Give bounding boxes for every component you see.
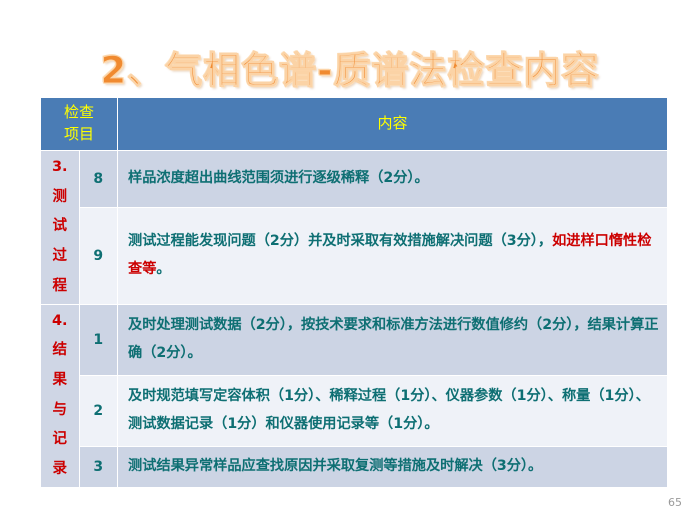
header-item-line1: 检查 (41, 102, 117, 124)
content-text-pre: 及时规范填写定容体积（1分）、稀释过程（1分）、仪器参数（1分）、称量（1分）、… (128, 388, 650, 432)
row-number: 3 (79, 446, 118, 487)
table-row: 4. 结 果与 记录 1 及时处理测试数据（2分），按技术要求和标准方法进行数值… (41, 304, 668, 375)
row-content: 及时处理测试数据（2分），按技术要求和标准方法进行数值修约（2分），结果计算正确… (118, 304, 668, 375)
category-line2: 果与 (47, 366, 73, 425)
category-line1: 4. 结 (47, 307, 73, 366)
slide-canvas: 2、气相色谱-质谱法检查内容 非会员水印 检查 项目 内容 3. 测 试过 程 … (0, 0, 700, 525)
table-body: 3. 测 试过 程 8 样品浓度超出曲线范围须进行逐级稀释（2分）。 9 测试过… (41, 151, 668, 488)
header-cell-content: 内容 (118, 98, 668, 151)
inspection-content-table: 检查 项目 内容 3. 测 试过 程 8 样品浓度超出曲线范围须进行逐级稀释（2… (40, 97, 668, 488)
row-content: 及时规范填写定容体积（1分）、稀释过程（1分）、仪器参数（1分）、称量（1分）、… (118, 375, 668, 446)
title-container: 2、气相色谱-质谱法检查内容 (0, 40, 700, 94)
row-content: 样品浓度超出曲线范围须进行逐级稀释（2分）。 (118, 151, 668, 208)
category-line1: 3. 测 (47, 153, 73, 212)
row-content: 测试过程能发现问题（2分）并及时采取有效措施解决问题（3分），如进样口惰性检查等… (118, 207, 668, 304)
content-text-pre: 测试结果异常样品应查找原因并采取复测等措施及时解决（3分）。 (128, 458, 542, 474)
category-line3: 记录 (47, 425, 73, 484)
table-row: 2 及时规范填写定容体积（1分）、稀释过程（1分）、仪器参数（1分）、称量（1分… (41, 375, 668, 446)
category-line2: 试过 (47, 212, 73, 271)
category-cell-results-records: 4. 结 果与 记录 (41, 304, 80, 487)
content-text-post: 。 (156, 261, 170, 277)
table-row: 9 测试过程能发现问题（2分）并及时采取有效措施解决问题（3分），如进样口惰性检… (41, 207, 668, 304)
row-number: 9 (79, 207, 118, 304)
table-row: 3. 测 试过 程 8 样品浓度超出曲线范围须进行逐级稀释（2分）。 (41, 151, 668, 208)
category-line3: 程 (47, 272, 73, 302)
page-number: 65 (668, 496, 682, 509)
row-content: 测试结果异常样品应查找原因并采取复测等措施及时解决（3分）。 (118, 446, 668, 487)
content-text-pre: 测试过程能发现问题（2分）并及时采取有效措施解决问题（3分）， (128, 233, 552, 249)
category-cell-testing-process: 3. 测 试过 程 (41, 151, 80, 305)
row-number: 1 (79, 304, 118, 375)
page-title: 2、气相色谱-质谱法检查内容 (100, 40, 599, 94)
header-item-line2: 项目 (41, 124, 117, 146)
row-number: 2 (79, 375, 118, 446)
content-text-pre: 及时处理测试数据（2分），按技术要求和标准方法进行数值修约（2分），结果计算正确… (128, 317, 658, 361)
header-cell-item: 检查 项目 (41, 98, 118, 151)
table-header-row: 检查 项目 内容 (41, 98, 668, 151)
table-row: 3 测试结果异常样品应查找原因并采取复测等措施及时解决（3分）。 (41, 446, 668, 487)
row-number: 8 (79, 151, 118, 208)
table-header: 检查 项目 内容 (41, 98, 668, 151)
content-text-pre: 样品浓度超出曲线范围须进行逐级稀释（2分）。 (128, 170, 429, 186)
